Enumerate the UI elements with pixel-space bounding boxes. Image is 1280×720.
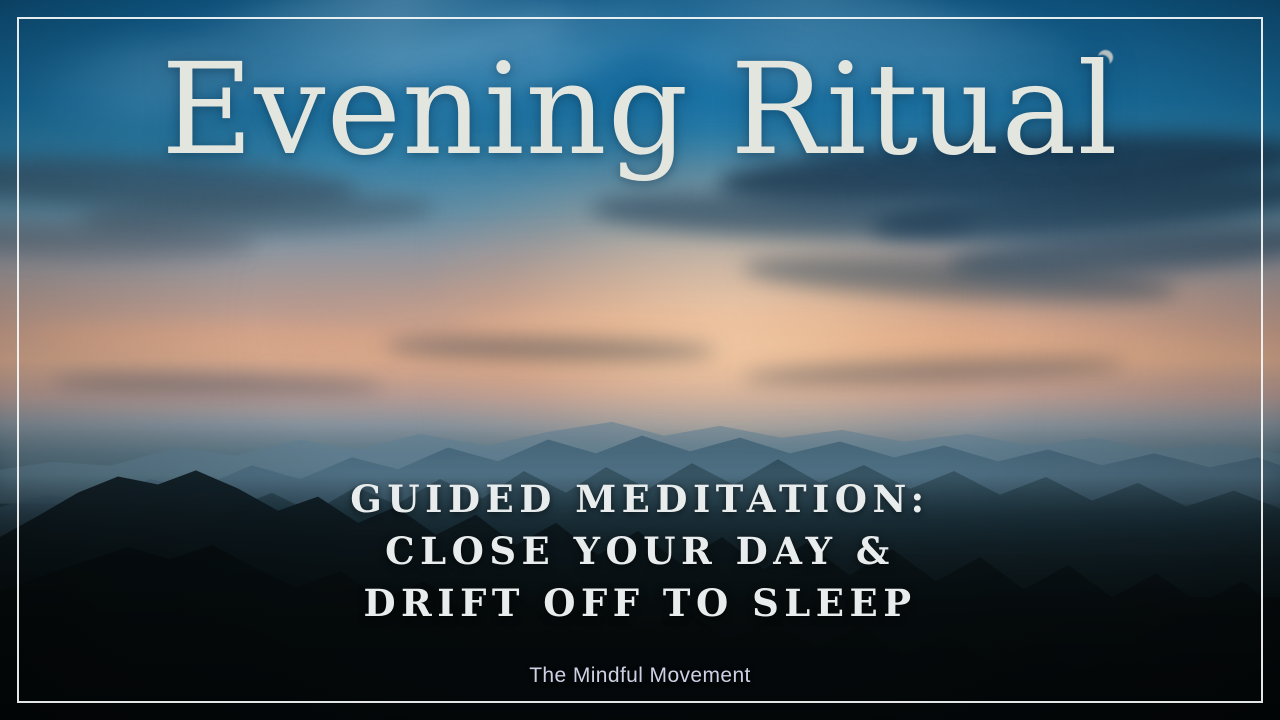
subtitle-line-2: CLOSE YOUR DAY & — [0, 525, 1280, 577]
page-title: Evening Ritual — [0, 46, 1280, 175]
subtitle-block: GUIDED MEDITATION: CLOSE YOUR DAY & DRIF… — [0, 473, 1280, 629]
subtitle-line-1: GUIDED MEDITATION: — [0, 473, 1280, 525]
channel-byline: The Mindful Movement — [0, 664, 1280, 688]
subtitle-line-3: DRIFT OFF TO SLEEP — [0, 577, 1280, 629]
video-thumbnail: Evening Ritual GUIDED MEDITATION: CLOSE … — [0, 0, 1280, 720]
